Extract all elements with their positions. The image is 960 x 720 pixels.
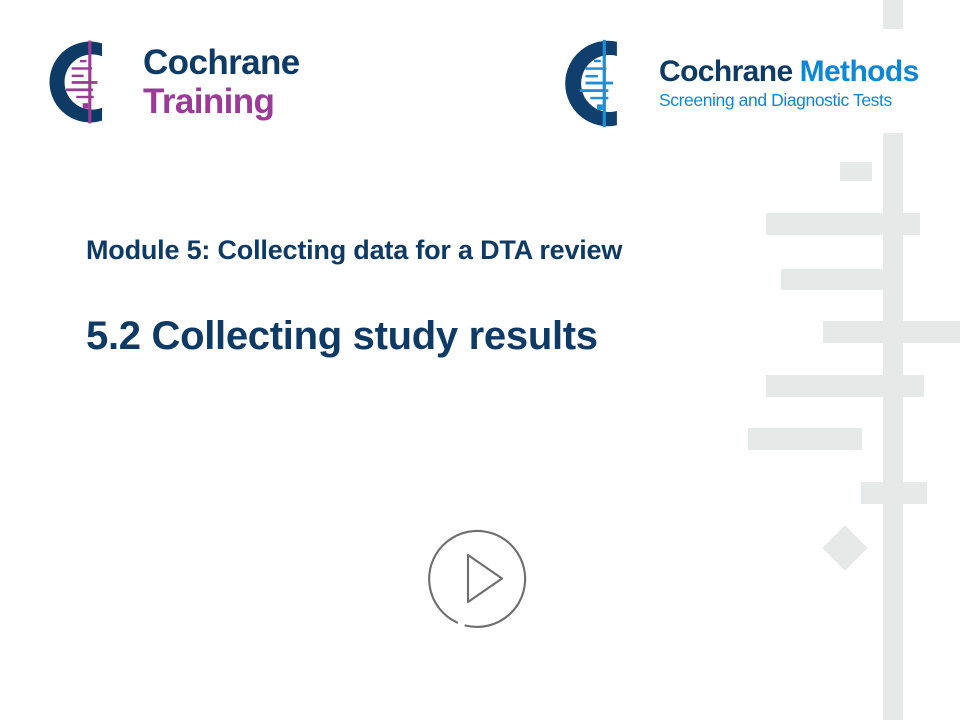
cochrane-training-logo: Cochrane Training <box>45 36 300 128</box>
heading-block: Module 5: Collecting data for a DTA revi… <box>86 235 806 359</box>
logo-row: Cochrane Training <box>0 0 960 150</box>
slide-root: Cochrane Training <box>0 0 960 720</box>
bar-6 <box>861 482 927 504</box>
play-icon <box>468 555 502 602</box>
logo-word-methods: Methods <box>800 55 919 88</box>
cochrane-training-wordmark: Cochrane Training <box>143 45 300 119</box>
logo-line-training: Training <box>143 84 300 119</box>
logo-word-cochrane: Cochrane <box>659 55 793 88</box>
bar-5 <box>748 428 862 450</box>
vertical-stripe-main <box>883 133 903 720</box>
small-bar <box>840 162 872 181</box>
logo-subtitle-screening-diagnostic-tests: Screening and Diagnostic Tests <box>659 92 919 110</box>
cochrane-methods-logo: CochraneMethods Screening and Diagnostic… <box>558 36 919 131</box>
bar-4 <box>766 375 924 397</box>
logo-line-cochrane-methods: CochraneMethods <box>659 57 919 87</box>
cochrane-logo-mark <box>45 36 137 128</box>
logo-line-cochrane: Cochrane <box>143 45 300 80</box>
cochrane-methods-logo-mark <box>558 36 653 131</box>
page-title: 5.2 Collecting study results <box>86 314 806 359</box>
play-button[interactable]: Play <box>423 523 533 633</box>
module-label: Module 5: Collecting data for a DTA revi… <box>86 235 806 266</box>
diamond <box>822 525 867 570</box>
cochrane-methods-wordmark: CochraneMethods Screening and Diagnostic… <box>659 57 919 110</box>
bar-1 <box>766 213 920 235</box>
bar-3 <box>823 321 960 343</box>
